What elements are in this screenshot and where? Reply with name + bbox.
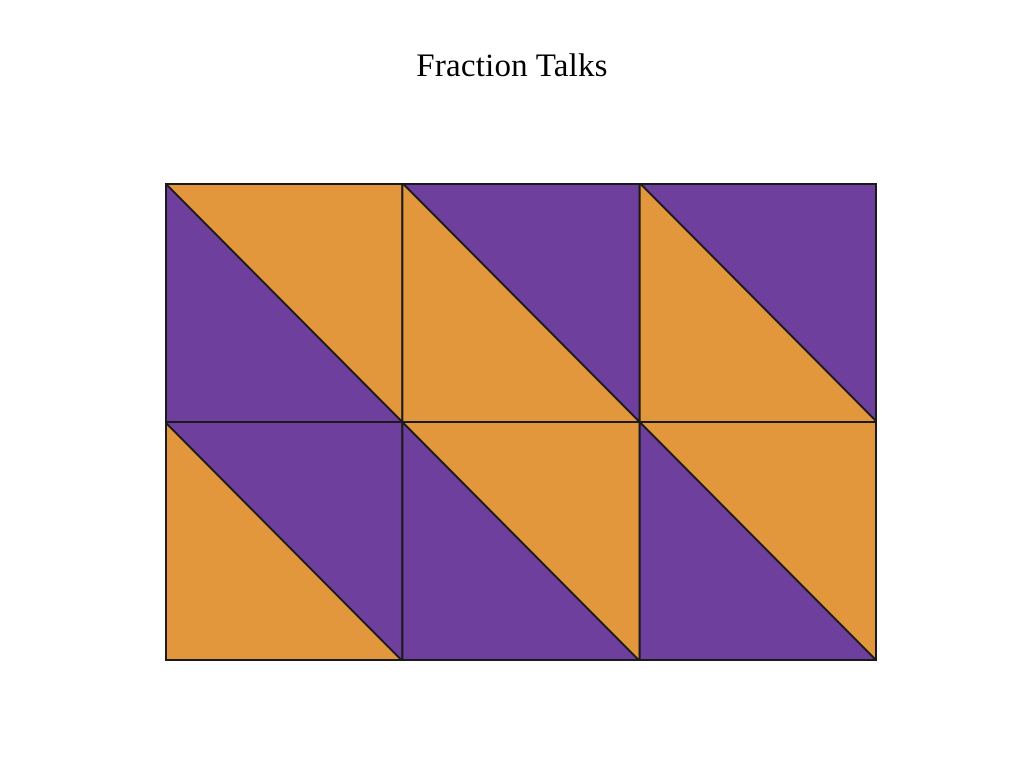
cell-r1c1 [402, 422, 639, 661]
slide-canvas: Fraction Talks [0, 0, 1024, 768]
page-title: Fraction Talks [0, 48, 1024, 86]
cell-r1c2 [640, 422, 877, 661]
cell-r0c0 [165, 183, 402, 422]
fraction-grid-svg [165, 183, 877, 661]
cell-r0c2 [640, 183, 877, 422]
fraction-grid-figure [165, 183, 877, 661]
cell-r1c0 [165, 422, 402, 661]
cell-r0c1 [402, 183, 639, 422]
